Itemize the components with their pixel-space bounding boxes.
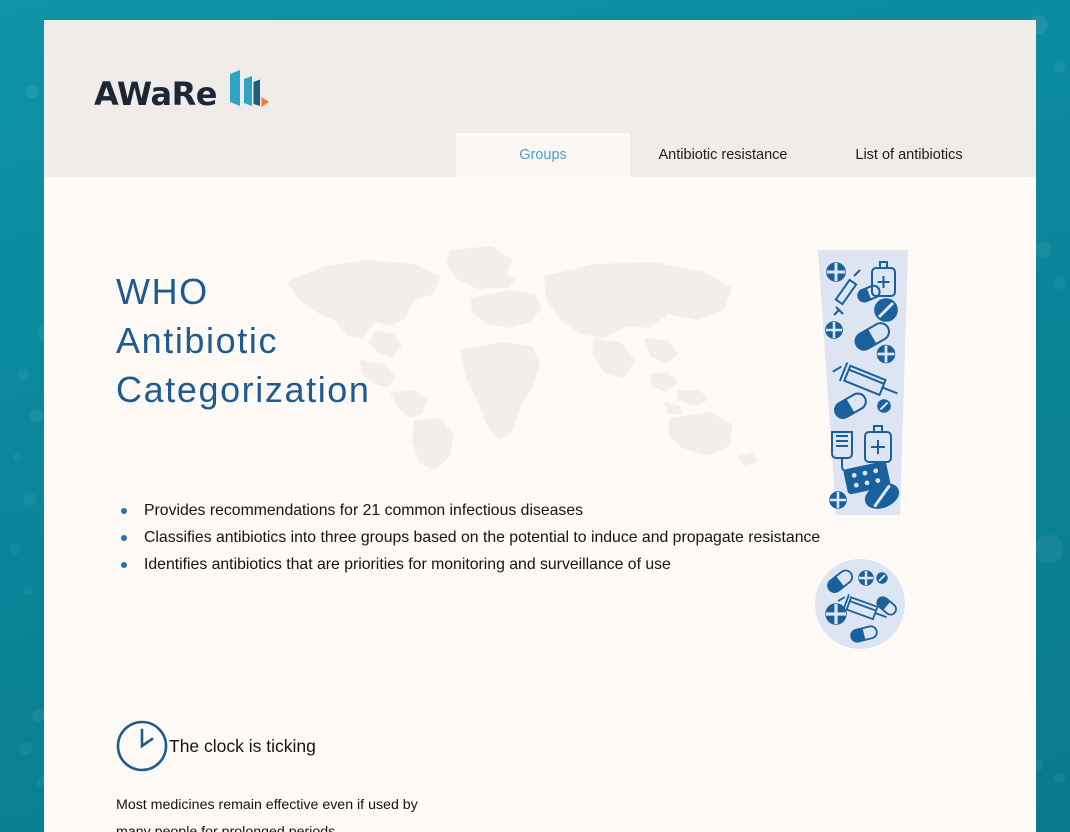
list-item: Provides recommendations for 21 common i… <box>116 497 906 524</box>
nav-spacer <box>44 133 456 177</box>
main-content: WHO Antibiotic Categorization Provides r… <box>44 177 1036 832</box>
clock-note: Most medicines remain effective even if … <box>116 792 536 832</box>
tab-list-of-antibiotics[interactable]: List of antibiotics <box>816 133 1002 177</box>
brand-logo[interactable]: AWaRe <box>94 70 270 110</box>
app-card: AWaRe Groups Antibiotic resistance List … <box>44 20 1036 832</box>
tab-antibiotic-resistance[interactable]: Antibiotic resistance <box>630 133 816 177</box>
aware-bars-logo-icon <box>226 70 270 110</box>
page-title: WHO Antibiotic Categorization <box>116 267 371 414</box>
clock-icon <box>116 720 168 772</box>
list-item: Classifies antibiotics into three groups… <box>116 524 906 551</box>
feature-bullet-list: Provides recommendations for 21 common i… <box>116 497 906 578</box>
clock-heading: The clock is ticking <box>169 736 316 757</box>
app-header: AWaRe Groups Antibiotic resistance List … <box>44 20 1036 157</box>
main-nav: Groups Antibiotic resistance List of ant… <box>44 133 1036 177</box>
brand-name: AWaRe <box>94 78 217 110</box>
medicine-icons-circle-icon <box>814 558 906 650</box>
medicine-icons-banner-icon <box>814 250 912 515</box>
list-item: Identifies antibiotics that are prioriti… <box>116 551 906 578</box>
tab-groups[interactable]: Groups <box>456 133 630 177</box>
clock-heading-row: The clock is ticking <box>116 720 316 772</box>
